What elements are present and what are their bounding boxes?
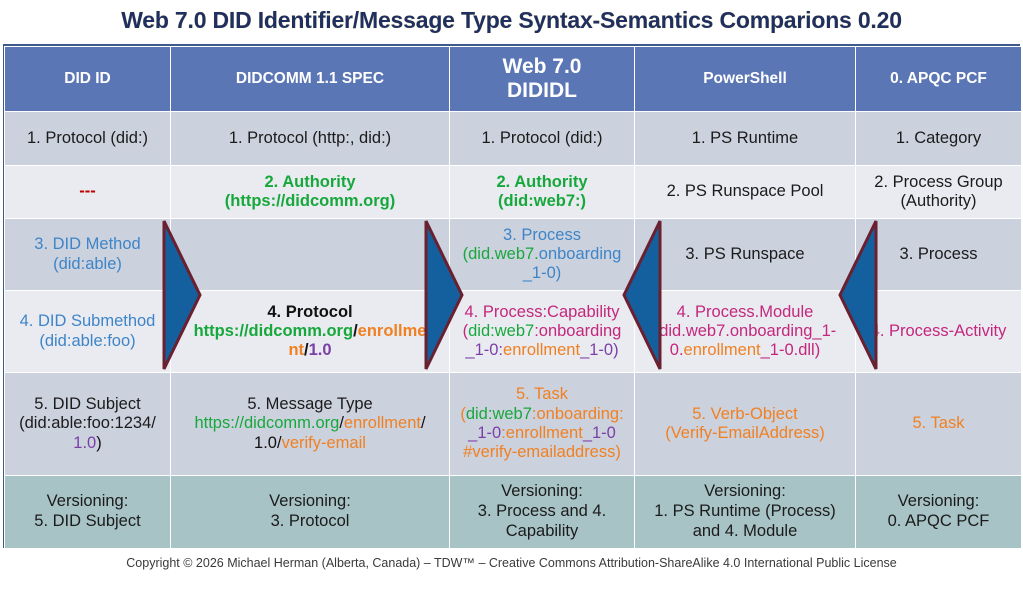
cell-authority-dididl: 2. Authority (did:web7:) [450,166,635,219]
cell-protocol-dididl: 1. Protocol (did:) [450,112,635,166]
cell-process-dididl-rest: onboarding [539,245,622,263]
cell-capability-dididl-line3: _1-0:enrollment_1-0) [454,341,630,360]
cell-versioning-did-id-line2: 5. DID Subject [9,512,166,532]
cell-authority-apqc: 2. Process Group (Authority) [856,166,1022,219]
cell-task-dididl: 5. Task (did:web7:onboarding: _1-0:enrol… [450,373,635,476]
column-header-didcomm-spec: DIDCOMM 1.1 SPEC [171,47,450,112]
cell-messagetype-url: https://didcomm.org [194,414,339,432]
cell-authority-did-id-dashes: --- [79,182,95,200]
cell-versioning-powershell-line1: Versioning: [639,482,851,502]
cell-task-dididl-line1: 5. Task [454,385,630,404]
cell-task-apqc-text: 5. Task [913,414,965,432]
cell-capability-rest: :onboarding [534,322,621,340]
cell-messagetype-version: 1.0/ [254,434,282,452]
cell-authority-dididl-line2: (did:web7:) [454,192,630,211]
cell-subject-version: 1.0 [73,434,96,452]
column-header-web70-dididl: Web 7.0 DIDIDL [450,47,635,112]
cell-module-suffix: _1-0.dll) [761,341,821,359]
cell-runspace-powershell: 3. PS Runspace [635,219,856,291]
cell-authority-apqc-line2: (Authority) [860,192,1017,211]
cell-versioning-dididl-line3: Capability [454,522,630,542]
cell-capability-dididl-line2: (did:web7:onboarding [454,322,630,341]
cell-authority-didcomm-line1: 2. Authority [175,173,445,192]
cell-process-dididl-did: (did.web7. [463,245,539,263]
table-row: 5. DID Subject (did:able:foo:1234/ 1.0) … [5,373,1022,476]
cell-versioning-did-id: Versioning: 5. DID Subject [5,476,171,549]
cell-task-enrollment: :enrollment [501,424,583,442]
column-header-apqc-pcf: 0. APQC PCF [856,47,1022,112]
cell-task-ver2: _1-0 [583,424,616,442]
cell-messagetype-didcomm-line2: https://didcomm.org/enrollment/ [175,414,445,433]
cell-authority-didcomm: 2. Authority (https://didcomm.org) [171,166,450,219]
cell-method-did-id-line2: (did:able) [9,255,166,274]
cell-task-did: did:web7 [466,405,532,423]
cell-subject-close-paren: ) [96,434,102,452]
column-header-did-id: DID ID [5,47,171,112]
column-header-powershell: PowerShell [635,47,856,112]
cell-method-didcomm-empty [171,219,450,291]
cell-submethod-did-id-line2: (did:able:foo) [9,332,166,351]
cell-protocol4-url: https://didcomm.org [194,322,354,340]
cell-versioning-apqc: Versioning: 0. APQC PCF [856,476,1022,549]
cell-activity-apqc-text: 4. Process-Activity [871,322,1007,340]
page-title: Web 7.0 DID Identifier/Message Type Synt… [0,0,1023,42]
cell-capability-dididl: 4. Process:Capability (did:web7:onboardi… [450,291,635,373]
cell-capability-ver1: _1-0: [465,341,503,359]
cell-messagetype-didcomm-line3: 1.0/verify-email [175,434,445,453]
cell-task-dididl-line4: #verify-emailaddress) [454,443,630,462]
cell-protocol-powershell: 1. PS Runtime [635,112,856,166]
cell-versioning-powershell: Versioning: 1. PS Runtime (Process) and … [635,476,856,549]
cell-messagetype-enrollment: enrollment [344,414,421,432]
cell-activity-apqc: 4. Process-Activity [856,291,1022,373]
table-row: Versioning: 5. DID Subject Versioning: 3… [5,476,1022,549]
cell-versioning-didcomm-line2: 3. Protocol [175,512,445,532]
cell-protocol4-didcomm-line1: 4. Protocol [175,303,445,322]
cell-protocol-apqc: 1. Category [856,112,1022,166]
cell-messagetype-verify: verify-email [282,434,366,452]
column-header-web70-line1: Web 7.0 [503,55,582,78]
cell-authority-powershell: 2. PS Runspace Pool [635,166,856,219]
cell-authority-apqc-line1: 2. Process Group [860,173,1017,192]
cell-method-did-id-line1: 3. DID Method [9,235,166,254]
cell-module-powershell-line1: 4. Process.Module [639,303,851,322]
cell-module-prefix: 0. [670,341,684,359]
cell-module-powershell-line3: 0.enrollment_1-0.dll) [639,341,851,360]
cell-task-ver1: _1-0 [468,424,501,442]
header-row: DID ID DIDCOMM 1.1 SPEC Web 7.0 DIDIDL P… [5,47,1022,112]
cell-capability-ver2: _1-0) [580,341,619,359]
comparison-table-container: DID ID DIDCOMM 1.1 SPEC Web 7.0 DIDIDL P… [3,44,1020,548]
cell-protocol4-version: 1.0 [309,341,332,359]
comparison-table: DID ID DIDCOMM 1.1 SPEC Web 7.0 DIDIDL P… [4,46,1022,549]
cell-messagetype-slash2: / [421,414,426,432]
cell-capability-dididl-line1: 4. Process:Capability [454,303,630,322]
table-row: 1. Protocol (did:) 1. Protocol (http:, d… [5,112,1022,166]
cell-capability-did: did:web7 [468,322,534,340]
cell-task-dididl-line3: _1-0:enrollment_1-0 [454,424,630,443]
table-header: DID ID DIDCOMM 1.1 SPEC Web 7.0 DIDIDL P… [5,47,1022,112]
cell-subject-did-id: 5. DID Subject (did:able:foo:1234/ 1.0) [5,373,171,476]
cell-versioning-apqc-line2: 0. APQC PCF [860,512,1017,532]
cell-process-dididl-line3: _1-0) [454,264,630,283]
cell-versioning-dididl: Versioning: 3. Process and 4. Capability [450,476,635,549]
copyright-footer: Copyright © 2026 Michael Herman (Alberta… [0,556,1023,570]
cell-task-dididl-line2: (did:web7:onboarding: [454,405,630,424]
cell-process-dididl-line2: (did.web7.onboarding [454,245,630,264]
table-body: 1. Protocol (did:) 1. Protocol (http:, d… [5,112,1022,549]
cell-process-dididl: 3. Process (did.web7.onboarding _1-0) [450,219,635,291]
cell-subject-did-id-line1: 5. DID Subject [9,395,166,414]
cell-protocol4-didcomm: 4. Protocol https://didcomm.org/enrollme… [171,291,450,373]
cell-protocol-did-id: 1. Protocol (did:) [5,112,171,166]
cell-versioning-didcomm: Versioning: 3. Protocol [171,476,450,549]
cell-versioning-apqc-line1: Versioning: [860,492,1017,512]
cell-messagetype-didcomm-line1: 5. Message Type [175,395,445,414]
cell-submethod-did-id: 4. DID Submethod (did:able:foo) [5,291,171,373]
table-row: 3. DID Method (did:able) 3. Process (did… [5,219,1022,291]
cell-versioning-didcomm-line1: Versioning: [175,492,445,512]
column-header-web70-line2: DIDIDL [507,79,577,102]
cell-verbobject-line1: 5. Verb-Object [639,405,851,424]
cell-authority-didcomm-line2: (https://didcomm.org) [175,192,445,211]
cell-versioning-powershell-line3: and 4. Module [639,522,851,542]
cell-process-apqc: 3. Process [856,219,1022,291]
cell-protocol-didcomm: 1. Protocol (http:, did:) [171,112,450,166]
cell-module-powershell: 4. Process.Module (did.web7.onboarding_1… [635,291,856,373]
cell-task-rest: :onboarding: [532,405,624,423]
cell-versioning-dididl-line1: Versioning: [454,482,630,502]
cell-process-dididl-line1: 3. Process [454,226,630,245]
cell-module-powershell-line2: (did.web7.onboarding_1- [639,322,851,341]
cell-method-did-id: 3. DID Method (did:able) [5,219,171,291]
cell-module-enrollment: enrollment [684,341,761,359]
cell-versioning-powershell-line2: 1. PS Runtime (Process) [639,502,851,522]
cell-subject-did-id-line2: (did:able:foo:1234/ [9,414,166,433]
cell-verbobject-powershell: 5. Verb-Object (Verify-EmailAddress) [635,373,856,476]
table-row: --- 2. Authority (https://didcomm.org) 2… [5,166,1022,219]
cell-versioning-dididl-line2: 3. Process and 4. [454,502,630,522]
cell-versioning-did-id-line1: Versioning: [9,492,166,512]
table-row: 4. DID Submethod (did:able:foo) 4. Proto… [5,291,1022,373]
cell-submethod-did-id-line1: 4. DID Submethod [9,312,166,331]
cell-verbobject-line2: (Verify-EmailAddress) [639,424,851,443]
cell-authority-did-id: --- [5,166,171,219]
cell-protocol4-didcomm-line2: https://didcomm.org/enrollme nt/1.0 [175,322,445,361]
cell-messagetype-didcomm: 5. Message Type https://didcomm.org/enro… [171,373,450,476]
cell-subject-did-id-line3: 1.0) [9,434,166,453]
cell-task-apqc: 5. Task [856,373,1022,476]
cell-capability-enrollment: enrollment [503,341,580,359]
cell-authority-dididl-line1: 2. Authority [454,173,630,192]
